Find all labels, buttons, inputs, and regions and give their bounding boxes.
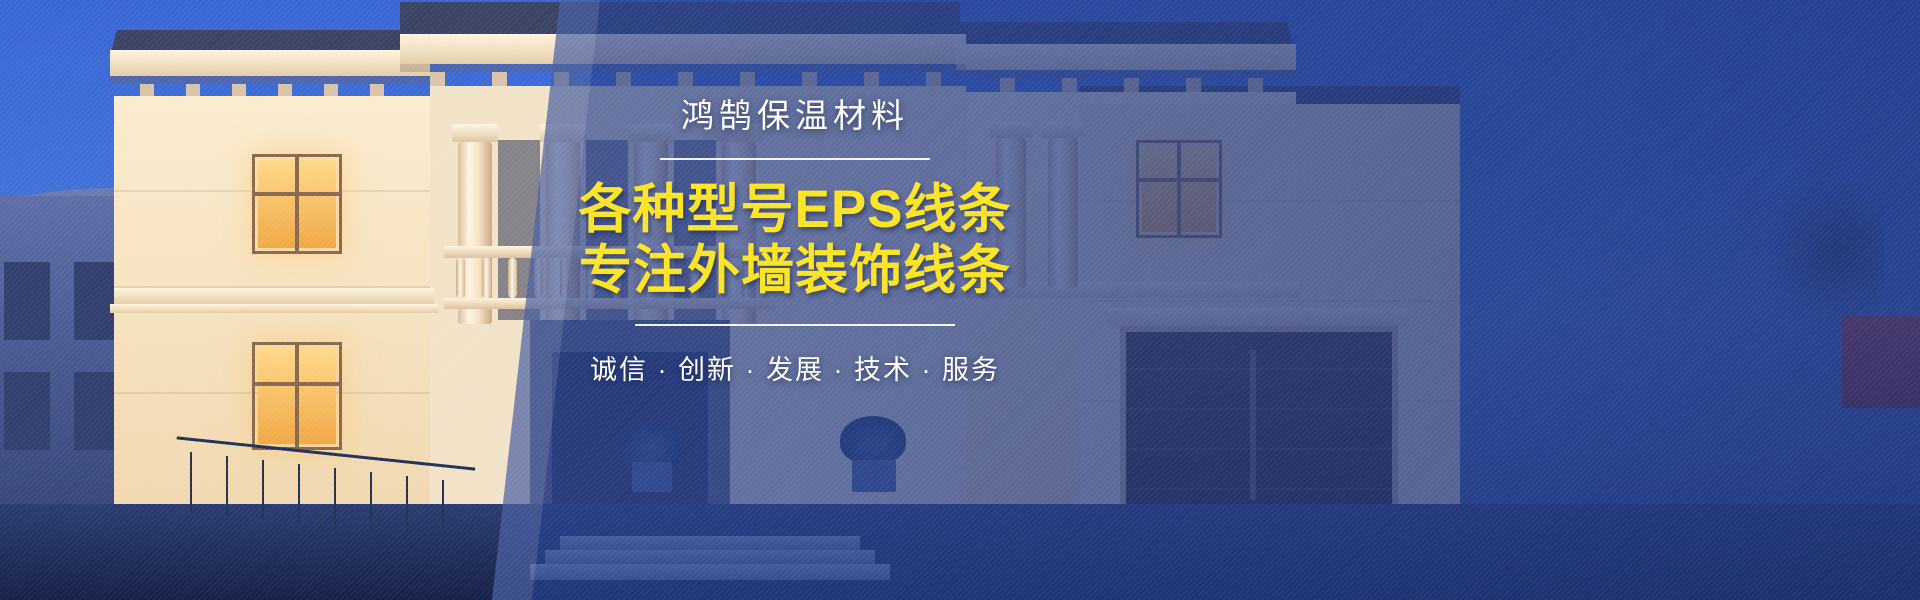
headline-line-1: 各种型号EPS线条 [560, 180, 1030, 239]
divider-top [660, 158, 930, 160]
divider-bottom [635, 324, 955, 326]
banner-copy: 鸿鹄保温材料 各种型号EPS线条 专注外墙装饰线条 诚信 · 创新 · 发展 ·… [560, 96, 1030, 387]
tagline: 诚信 · 创新 · 发展 · 技术 · 服务 [560, 348, 1030, 387]
headline-line-2: 专注外墙装饰线条 [560, 241, 1030, 300]
promo-banner: 鸿鹄保温材料 各种型号EPS线条 专注外墙装饰线条 诚信 · 创新 · 发展 ·… [0, 0, 1920, 600]
brand-name: 鸿鹄保温材料 [560, 96, 1030, 136]
